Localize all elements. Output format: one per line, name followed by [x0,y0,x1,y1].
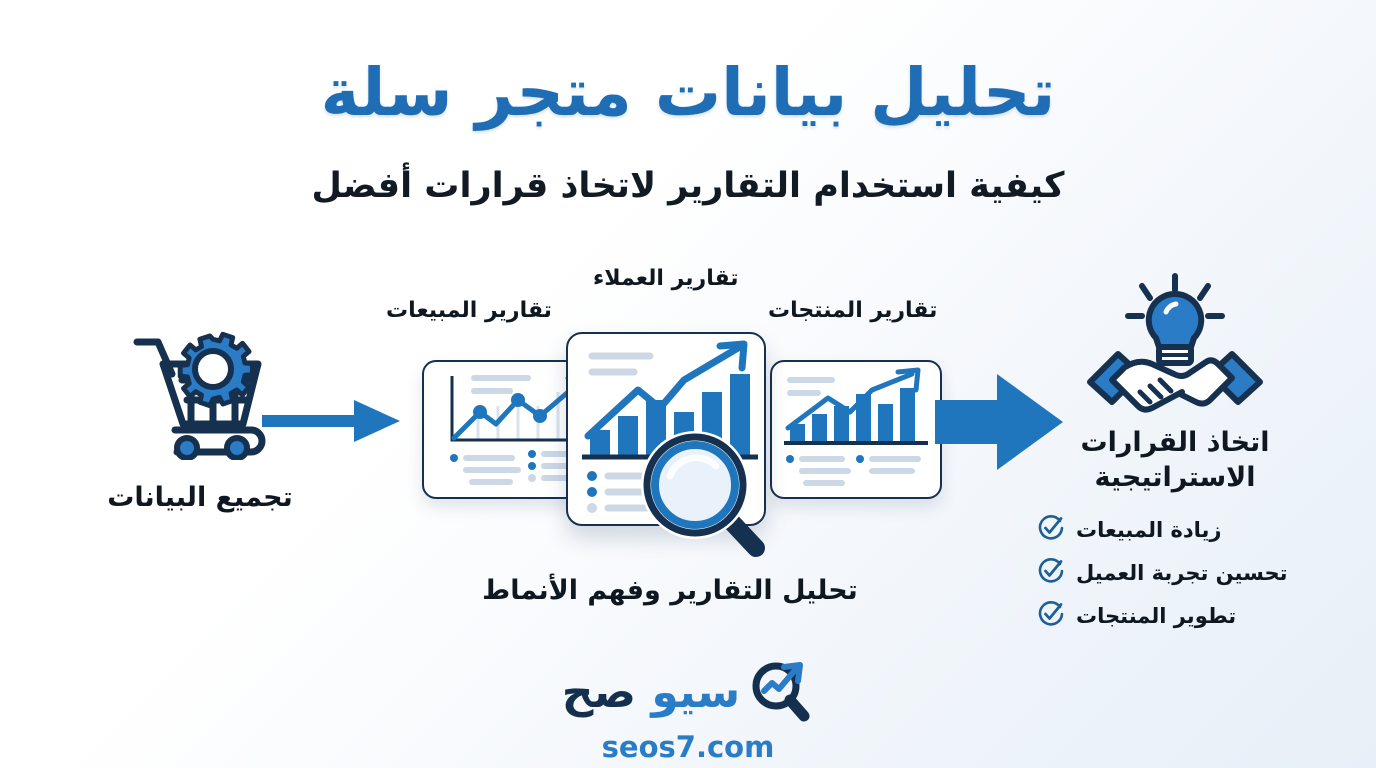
list-item: زيادة المبيعات [1020,515,1330,545]
seo-magnifier-arrow-icon [750,660,814,726]
products-report-card[interactable] [770,360,942,499]
logo-word-primary: سيو [651,667,740,718]
check-circle-icon [1038,515,1064,545]
check-circle-icon [1038,558,1064,588]
handshake-lightbulb-icon [1020,272,1330,422]
strategic-decisions-title: اتخاذ القرارات الاستراتيجية [1020,426,1330,495]
benefit-label: تطوير المنتجات [1076,604,1236,628]
shopping-cart-gear-icon [125,445,275,464]
page-title: تحليل بيانات متجر سلة [0,58,1376,127]
check-circle-icon [1038,601,1064,631]
magnifying-glass-icon [640,430,770,564]
infographic-canvas: تحليل بيانات متجر سلة كيفية استخدام التق… [0,0,1376,768]
analysis-label: تحليل التقارير وفهم الأنماط [430,575,910,606]
site-logo[interactable]: سيو صح seos7.com [0,660,1376,764]
logo-word-secondary: صح [562,667,636,718]
list-item: تطوير المنتجات [1020,601,1330,631]
benefits-checklist: زيادة المبيعات تحسين تجربة العميل [1020,515,1330,631]
strategic-decisions-block: اتخاذ القرارات الاستراتيجية زيادة المبيع… [1020,272,1330,647]
benefit-label: زيادة المبيعات [1076,518,1222,542]
list-item: تحسين تجربة العميل [1020,558,1330,588]
page-subtitle: كيفية استخدام التقارير لاتخاذ قرارات أفض… [0,165,1376,207]
customers-reports-label: تقارير العملاء [593,266,739,291]
sales-reports-label: تقارير المبيعات [386,298,552,323]
products-reports-label: تقارير المنتجات [768,298,937,323]
arrow-right-icon [262,398,402,448]
collect-data-label: تجميع البيانات [60,482,340,513]
benefit-label: تحسين تجربة العميل [1076,561,1288,585]
site-url[interactable]: seos7.com [0,730,1376,764]
